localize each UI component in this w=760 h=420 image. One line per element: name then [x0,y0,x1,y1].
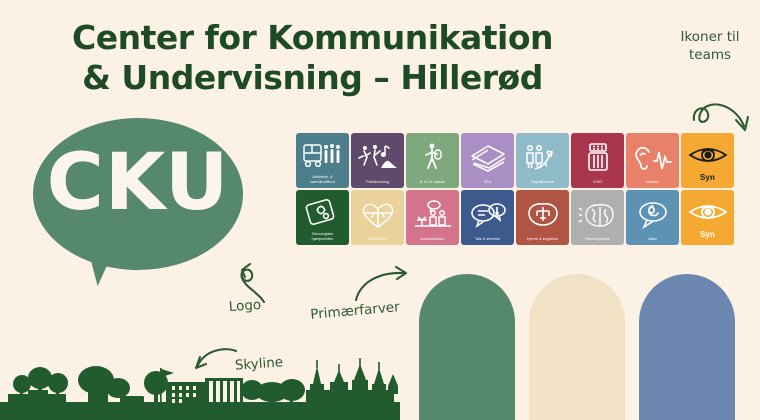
icon-tile-label: Aktivitets- & samværstilbud [296,175,349,188]
icon-tile-afasi[interactable]: Afasi [626,190,679,245]
icon-tile-viso[interactable]: VISO [571,133,624,188]
two-people-growth-arrow-icon [516,133,569,180]
icon-grid: Aktivitets- & samværstilbud Fritidsordni… [296,133,734,245]
brain-impact-icon [571,190,624,237]
people-speech-desk-icon [406,190,459,237]
eye-icon [681,190,734,230]
icon-tile-9-10-klasse[interactable]: 9. & 10. klasse [406,133,459,188]
books-stack-icon [461,133,514,180]
speech-bubble-swirl-icon [626,190,679,237]
icon-tile-label: Daghøjskolen [516,180,569,188]
logo-block: CKU [33,118,255,308]
ear-soundwave-icon [626,133,679,180]
icon-tile-adhd-asf[interactable]: ADHD/ASF [351,190,404,245]
icon-tile-label: Fritidsordning [351,180,404,188]
icon-tile-label: VISO [571,180,624,188]
dancing-people-music-icon [351,133,404,180]
bus-and-people-icon [296,133,349,175]
speech-bubbles-icon [461,190,514,237]
icon-tile-label: Hjerne & kognition [516,237,569,245]
primary-color-swatch-blue [639,274,735,420]
icon-tile-label: Tale & stemme [461,237,514,245]
icon-tile-fritidsordning[interactable]: Fritidsordning [351,133,404,188]
icon-tile-label: Hørelse [626,180,679,188]
brand-board: Center for Kommunikation & Undervisning … [0,0,760,420]
icon-tile-hjerne-kognition[interactable]: Hjerne & kognition [516,190,569,245]
icon-tile-tale-stemme[interactable]: Tale & stemme [461,190,514,245]
page-title: Center for Kommunikation & Undervisning … [0,18,625,99]
eye-icon [681,133,734,173]
annotation-logo: Logo [214,295,275,317]
icon-tile-syn-row1[interactable]: Syn [681,133,734,188]
icon-tile-hjernerystelse[interactable]: Hjernerystelse [571,190,624,245]
heart-puzzle-icon [351,190,404,237]
icon-tile-label: Administration [406,237,459,245]
arrow-to-icon-grid-icon [690,80,756,140]
skyline-silhouette [0,350,400,420]
primary-color-swatch-cream [529,274,625,420]
icon-tile-stu[interactable]: STU [461,133,514,188]
icon-tile-label: Syn [681,173,734,188]
annotation-ikoner-til-teams: Ikoner til teams [664,28,756,64]
icon-tile-aktivitets-samvaerstilbud[interactable]: Aktivitets- & samværstilbud [296,133,349,188]
icon-tile-label: Afasi [626,237,679,245]
suitcase-icon [571,133,624,180]
walking-student-backpack-icon [406,133,459,180]
icon-tile-teknologiske-hjaelpemidler[interactable]: Teknologiske hjælpemidler [296,190,349,245]
annotation-primaerfarver: Primærfarver [299,297,410,325]
icon-tile-label: ADHD/ASF [351,237,404,245]
logo-text: CKU [33,144,243,222]
icon-tile-label: STU [461,180,514,188]
icon-tile-administration[interactable]: Administration [406,190,459,245]
icon-tile-label: Teknologiske hjælpemidler [296,232,349,245]
icon-tile-hoerelse[interactable]: Hørelse [626,133,679,188]
brain-circuit-icon [516,190,569,237]
icon-tile-label: 9. & 10. klasse [406,180,459,188]
icon-tile-label: Syn [681,230,734,245]
primary-color-swatch-green [419,274,515,420]
tablet-gears-icon [296,190,349,232]
speech-bubble-icon: CKU [33,118,243,270]
icon-tile-label: Hjernerystelse [571,237,624,245]
icon-tile-daghoejskolen[interactable]: Daghøjskolen [516,133,569,188]
icon-tile-syn-row2[interactable]: Syn [681,190,734,245]
